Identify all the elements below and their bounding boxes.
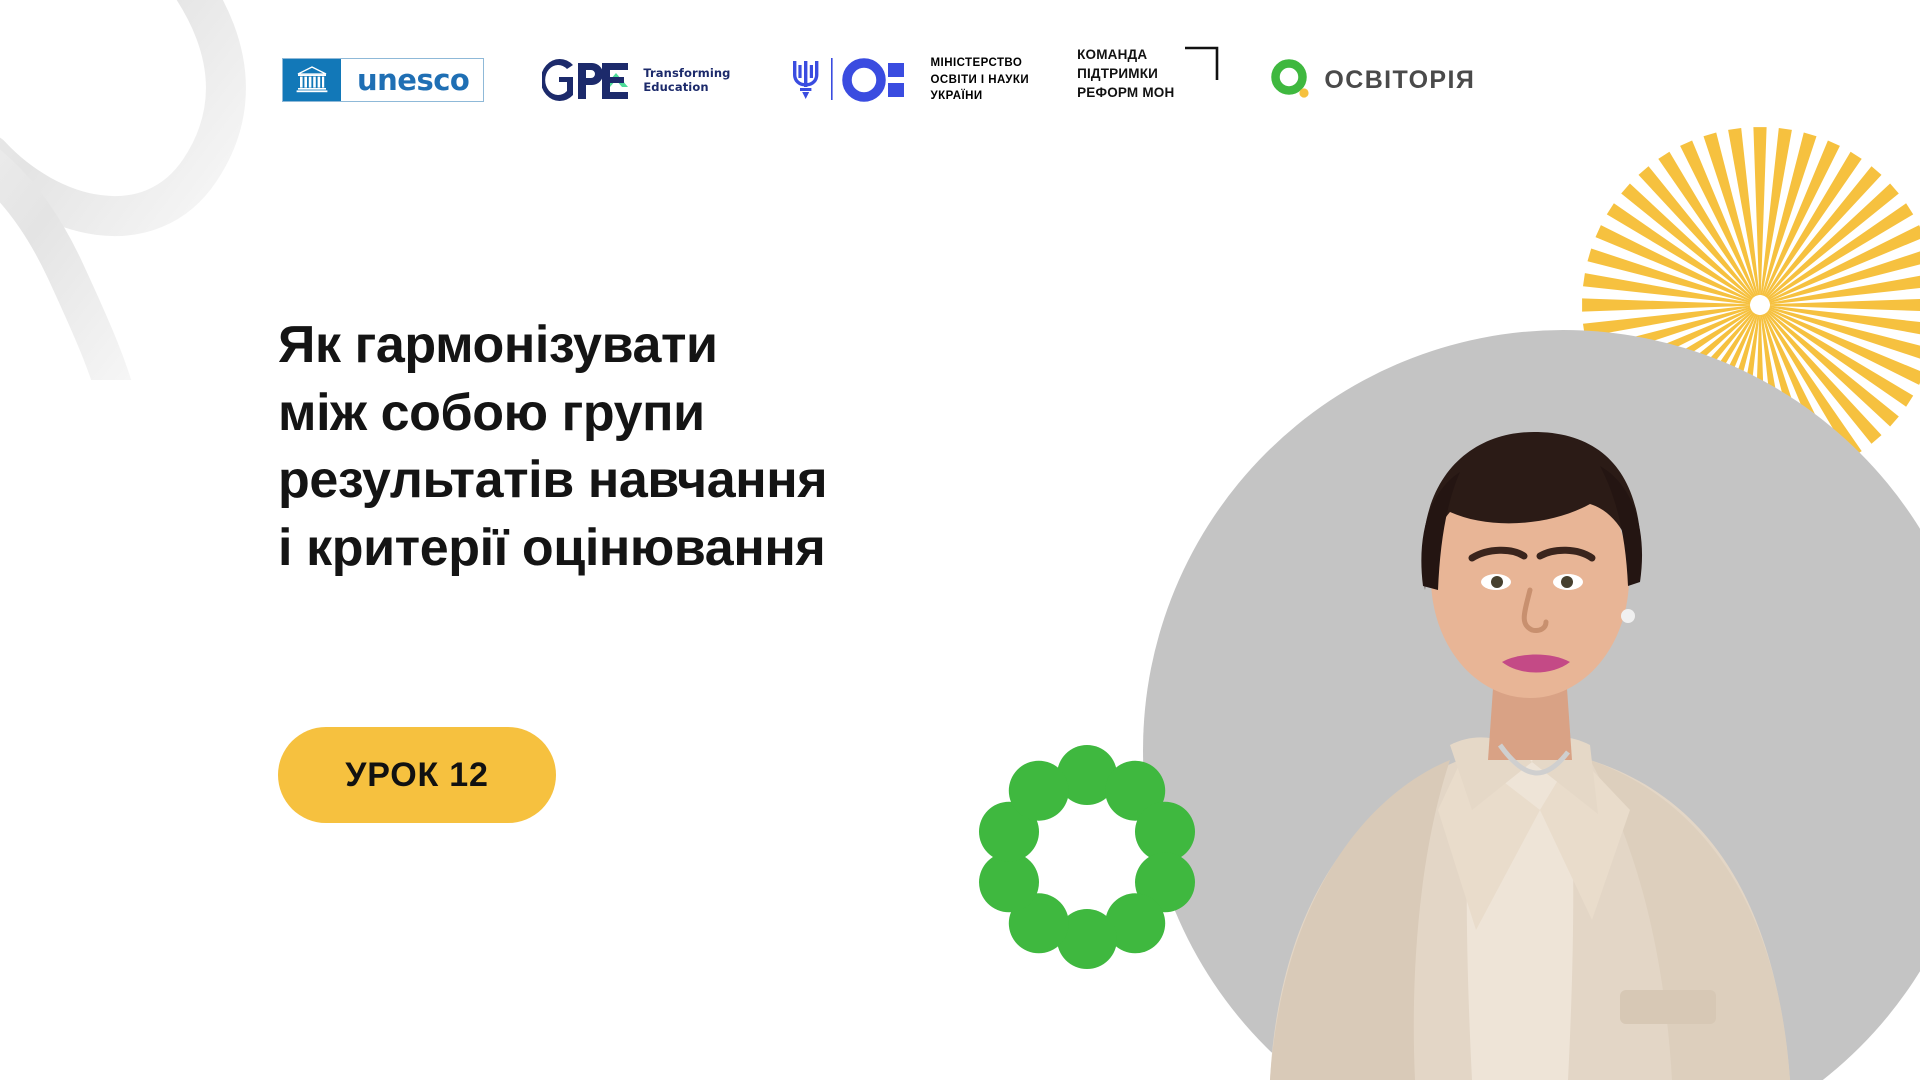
logo-osvitoria[interactable]: ОСВІТОРІЯ [1269,45,1475,115]
lesson-badge[interactable]: УРОК 12 [278,727,556,823]
lesson-badge-label: УРОК 12 [345,756,488,795]
ministry-line1: МІНІСТЕРСТВО [931,55,1030,72]
gpe-tagline-line1: Transforming [643,66,730,80]
unesco-temple-icon [283,59,341,101]
unesco-wordmark: unesco [357,66,469,95]
reform-team-line3: РЕФОРМ МОН [1077,83,1174,102]
reform-team-line1: КОМАНДА [1077,45,1174,64]
osvitoria-wordmark: ОСВІТОРІЯ [1324,66,1475,95]
ministry-mark-icon [787,55,921,105]
logo-ministry-of-education[interactable]: МІНІСТЕРСТВО ОСВІТИ І НАУКИ УКРАЇНИ [787,45,1030,115]
ministry-line3: УКРАЇНИ [931,88,1030,105]
reform-team-text: КОМАНДА ПІДТРИМКИ РЕФОРМ МОН [1077,45,1174,102]
logo-reform-support-team[interactable]: КОМАНДА ПІДТРИМКИ РЕФОРМ МОН [1077,45,1219,115]
ministry-line2: ОСВІТИ І НАУКИ [931,72,1030,89]
logo-unesco[interactable]: unesco [282,45,484,115]
gpe-tagline: Transforming Education [643,66,730,94]
slide-canvas: unesco Transforming Education [0,0,1920,1080]
osvitoria-ring-icon [1269,57,1313,103]
ministry-text: МІНІСТЕРСТВО ОСВІТИ І НАУКИ УКРАЇНИ [931,55,1030,105]
portrait-backdrop-circle [1143,330,1920,1080]
reform-team-line2: ПІДТРИМКИ [1077,64,1174,83]
gpe-wordmark-icon [542,57,634,103]
partner-logo-bar: unesco Transforming Education [282,45,1475,115]
page-title: Як гармонізувати між собою групи результ… [278,312,1098,582]
gpe-tagline-line2: Education [643,80,730,94]
logo-gpe[interactable]: Transforming Education [542,45,730,115]
corner-bracket-icon [1183,46,1219,82]
